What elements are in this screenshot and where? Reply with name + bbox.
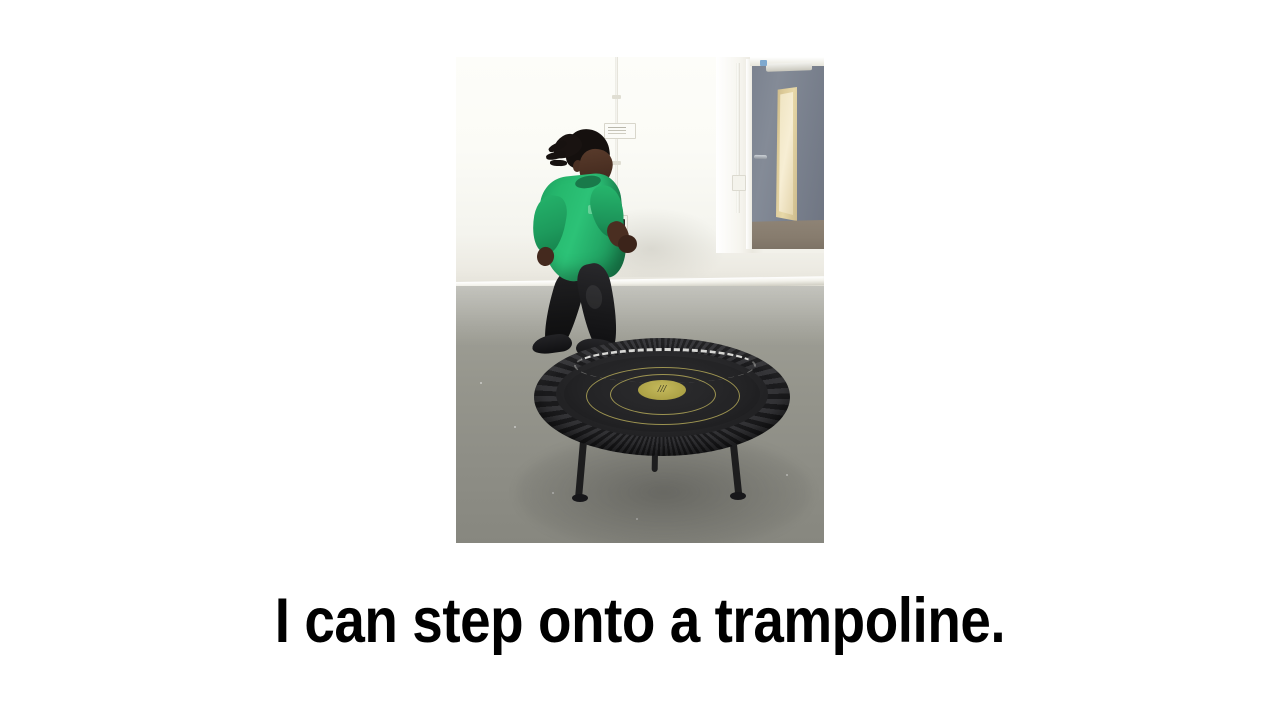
trampoline-stitching (574, 348, 756, 383)
door-jamb (746, 59, 753, 249)
door-handle-icon (754, 155, 767, 159)
wall-pipe-bracket (732, 175, 746, 191)
child-right-hand (618, 235, 637, 253)
door-closer-badge (760, 60, 767, 66)
trampoline-logo-mark: /// (651, 384, 673, 395)
door-kick-plate (752, 220, 824, 249)
child-figure (526, 129, 656, 359)
child-hair-lock (550, 160, 567, 167)
vision-panel-glass (779, 92, 793, 215)
photo-image: /// (456, 57, 824, 543)
mini-trampoline: /// (534, 338, 790, 473)
conduit-clip (612, 95, 621, 99)
caption-text: I can step onto a trampoline. (83, 582, 1197, 660)
fire-door (716, 57, 824, 257)
trampoline-foot (572, 494, 588, 502)
floor-speck (514, 426, 516, 428)
trampoline-foot (730, 492, 746, 500)
floor-speck (480, 382, 482, 384)
door-closer-icon (766, 62, 812, 72)
slide: /// I can step onto a trampoline. (0, 0, 1280, 720)
